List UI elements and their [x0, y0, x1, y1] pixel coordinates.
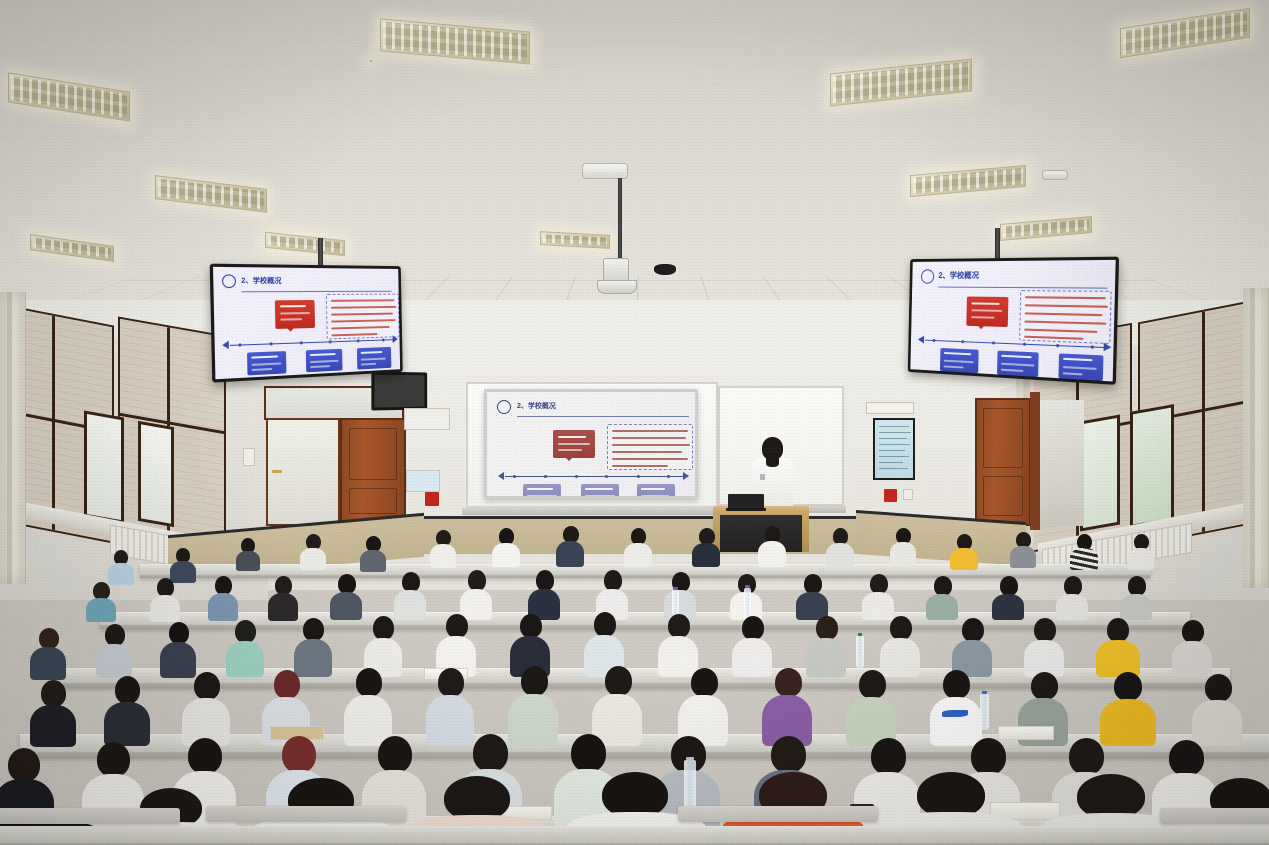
window-open-casement-right[interactable] [1080, 414, 1120, 531]
slide-node-3 [1058, 353, 1103, 380]
student [436, 614, 476, 676]
desk-row-front [0, 826, 1269, 845]
notice-strip-right [866, 402, 914, 414]
student [208, 576, 238, 618]
slide-node-1 [247, 351, 286, 375]
ceiling-light-panel [540, 231, 610, 249]
door-handle-left[interactable] [272, 470, 282, 473]
student [658, 614, 698, 676]
ceiling-light-panel [830, 59, 972, 107]
slide-title-projected: 2、学校概况 [517, 401, 556, 411]
stairwell-view-right [1040, 400, 1084, 526]
student [394, 572, 426, 618]
student [796, 574, 828, 618]
slide-node-3 [637, 484, 675, 496]
notice-sheet [875, 420, 913, 478]
ceiling-speaker [1042, 170, 1068, 180]
student [86, 582, 116, 620]
student [926, 576, 958, 618]
student [862, 574, 894, 618]
lecture-hall-photo: 2、学校概况 [0, 0, 1269, 845]
ceiling-light-panel [1120, 8, 1250, 59]
student [992, 576, 1024, 618]
slide-logo-icon [222, 274, 236, 288]
student [426, 668, 474, 744]
wall-schedule-poster [404, 408, 450, 430]
projection-screen: 2、学校概况 [484, 389, 698, 499]
student [846, 670, 896, 744]
slide-timeline-axis [230, 339, 393, 346]
ceiling-light-panel [910, 165, 1026, 197]
student [294, 618, 332, 676]
ceiling-light-panel [265, 232, 345, 256]
student [236, 538, 260, 568]
slide-node-2 [306, 349, 343, 373]
student [150, 578, 180, 618]
student [1056, 576, 1088, 618]
light-switch-panel-left[interactable] [243, 448, 255, 466]
wall-display-right[interactable]: 2、学校概况 [908, 257, 1119, 385]
ceiling-light-panel [1000, 216, 1092, 241]
front-wall-monitor-off[interactable] [371, 371, 427, 410]
student [1192, 674, 1242, 744]
student [160, 622, 196, 676]
audience-seating [0, 520, 1269, 845]
student [890, 528, 916, 564]
student [624, 528, 652, 564]
ceiling-speaker [582, 163, 628, 179]
water-bottle [980, 694, 989, 730]
student [364, 616, 402, 676]
student [108, 550, 134, 582]
ceiling-light-panel [380, 18, 530, 64]
door-frame-right [1030, 392, 1040, 530]
slide-node-2 [997, 351, 1039, 377]
student [692, 528, 720, 564]
student [104, 676, 150, 744]
seat-back [1160, 808, 1269, 824]
slide-title-left: 2、学校概况 [241, 276, 281, 286]
student-striped-shirt [1070, 534, 1098, 568]
student [30, 680, 76, 744]
slide-title-rule [241, 291, 391, 292]
student [96, 624, 132, 676]
student [806, 616, 846, 676]
wall-info-card [406, 470, 440, 492]
student [508, 666, 558, 744]
student [30, 628, 66, 678]
student [360, 536, 386, 568]
student [492, 528, 520, 564]
student [1172, 620, 1212, 676]
slide-surface-right: 2、学校概况 [910, 260, 1115, 382]
student [1024, 618, 1064, 676]
student [430, 530, 456, 564]
window-open-casement-right-2[interactable] [1130, 404, 1174, 528]
student-nike-shirt [930, 670, 982, 744]
ceiling-light-panel [155, 175, 267, 213]
student [880, 616, 920, 676]
presenter-laptop[interactable] [728, 494, 764, 509]
presenter-badge [760, 474, 765, 480]
wall-display-left[interactable]: 2、学校概况 [210, 264, 403, 383]
ceiling-light-panel [370, 60, 372, 62]
ceiling-light-panel [8, 72, 130, 121]
slide-timeline-arrow-left [918, 336, 924, 344]
slide-red-callout [966, 297, 1008, 328]
student-yellow-shirt [1096, 618, 1140, 676]
classroom-door-left[interactable] [340, 418, 406, 524]
wall-switch-right[interactable] [903, 489, 913, 500]
student [826, 528, 854, 564]
student [678, 668, 728, 744]
slide-node-1 [523, 484, 561, 496]
student [268, 576, 298, 618]
student [664, 572, 696, 618]
slide-body-textbox [607, 424, 693, 470]
water-bottle [856, 636, 864, 668]
slide-red-callout [553, 430, 595, 458]
classroom-door-right[interactable] [975, 398, 1031, 526]
slide-surface-projected: 2、学校概况 [487, 392, 695, 496]
student [732, 616, 772, 676]
slide-title-rule [517, 416, 689, 417]
slide-surface-left: 2、学校概况 [213, 267, 400, 379]
student [952, 618, 992, 676]
seat-back [0, 808, 180, 824]
fire-safety-sign-left [425, 492, 439, 506]
student [1128, 534, 1154, 568]
student [330, 574, 362, 618]
slide-title-right: 2、学校概况 [938, 270, 979, 281]
student [596, 570, 628, 618]
slide-timeline-arrow-right [392, 335, 397, 343]
slide-body-textbox [1019, 290, 1112, 344]
student [758, 526, 786, 564]
student [344, 668, 392, 744]
student [226, 620, 264, 676]
seat-back [206, 806, 406, 822]
slide-node-3 [357, 347, 391, 370]
seat-back [678, 806, 878, 822]
student [592, 666, 642, 744]
student [762, 668, 812, 744]
student [1120, 576, 1152, 618]
presenter-laptop-base [726, 508, 766, 511]
slide-logo-icon [921, 269, 934, 283]
water-bottle [672, 590, 679, 616]
slide-red-callout [275, 300, 315, 329]
slide-body-textbox [326, 294, 400, 340]
student [300, 534, 326, 566]
presenter-glasses-icon [764, 448, 781, 452]
fire-safety-sign-right [884, 489, 897, 502]
slide-timeline-axis [505, 476, 683, 477]
slide-logo-icon [497, 400, 511, 414]
slide-node-1 [940, 348, 979, 373]
ceiling-camera [654, 264, 676, 275]
water-bottle [744, 588, 751, 616]
window-open-casement-left[interactable] [84, 410, 124, 523]
student [556, 526, 584, 564]
student [182, 672, 230, 744]
ceiling-projector-base [597, 280, 637, 294]
student-yellow-shirt [950, 534, 978, 568]
slide-timeline-arrow-left [498, 472, 504, 480]
slide-timeline-arrow-left [222, 341, 229, 350]
student [170, 548, 196, 580]
student [460, 570, 492, 618]
slide-timeline-arrow-right [683, 472, 689, 480]
slide-title-rule [938, 287, 1107, 289]
framed-notice-board [873, 418, 915, 480]
nike-logo-icon [942, 710, 968, 717]
whiteboard-tray [462, 508, 724, 515]
ceiling-light-panel [30, 234, 114, 262]
slide-node-2 [581, 484, 619, 496]
slide-timeline-arrow-right [1104, 343, 1112, 352]
student-yellow-shirt [1100, 672, 1156, 744]
student [528, 570, 560, 618]
presenter-collar [766, 458, 779, 467]
student [1010, 532, 1036, 566]
window-open-casement-left-2[interactable] [138, 421, 174, 527]
